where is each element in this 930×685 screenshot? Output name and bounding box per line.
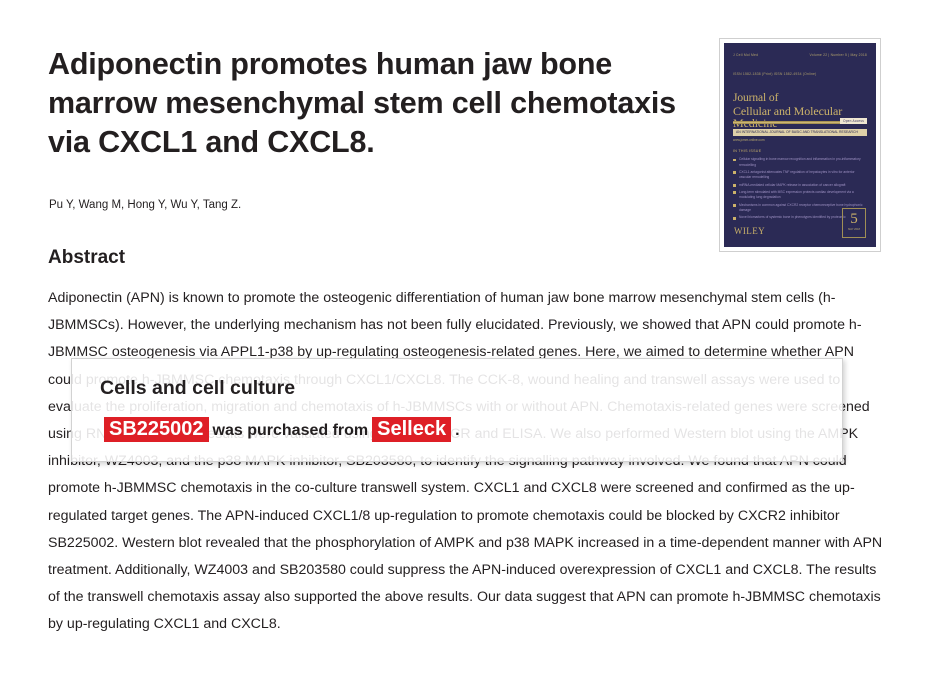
annotation-period: . bbox=[451, 422, 463, 439]
wiley-logo: WILEY bbox=[734, 226, 765, 236]
cover-issue-subtext: MAY 2018 bbox=[843, 228, 865, 231]
cover-issn-line: ISSN 1582-1838 (Print) ISSN 1582-4934 (O… bbox=[733, 72, 816, 76]
cover-header-left: J Cell Mol Med bbox=[733, 53, 758, 58]
cover-in-this-issue-label: IN THIS ISSUE bbox=[733, 149, 761, 153]
cover-header-right: Volume 22 | Number 5 | May 2018 bbox=[809, 53, 867, 58]
document-page: Adiponectin promotes human jaw bone marr… bbox=[0, 0, 930, 685]
cover-journal-line1: Journal of bbox=[733, 92, 778, 104]
cover-bullet-item: miRNA-mediated cellular MAPK release in … bbox=[733, 183, 867, 189]
cover-bullet-item: Cellular signalling in bone marrow recog… bbox=[733, 157, 867, 168]
cover-issue-badge: 5 MAY 2018 bbox=[842, 208, 866, 238]
annotation-heading: Cells and cell culture bbox=[100, 376, 295, 400]
cover-website-line: www.jcmm.online.com bbox=[733, 137, 867, 143]
cover-open-access-badge: Open Access bbox=[840, 118, 867, 124]
annotation-middle-text: was purchased from bbox=[209, 422, 373, 439]
cover-issue-number: 5 bbox=[843, 210, 865, 228]
highlighted-vendor: Selleck bbox=[372, 417, 451, 442]
page-title: Adiponectin promotes human jaw bone marr… bbox=[48, 45, 703, 162]
cover-journal-line2: Cellular and Molecular Medicine bbox=[733, 105, 876, 130]
annotation-overlay: Cells and cell culture SB225002was purch… bbox=[71, 358, 843, 462]
abstract-heading: Abstract bbox=[48, 246, 125, 270]
cover-bullet-item: CXCL1 antagonist attenuates TNF regulati… bbox=[733, 170, 867, 181]
cover-bullet-item: Long-term stimulated with MSC expression… bbox=[733, 190, 867, 201]
highlighted-compound: SB225002 bbox=[104, 417, 209, 442]
cover-subtitle-band: AN INTERNATIONAL JOURNAL OF BASIC AND TR… bbox=[733, 129, 867, 136]
cover-header-row: J Cell Mol Med Volume 22 | Number 5 | Ma… bbox=[733, 52, 867, 58]
journal-cover-thumbnail: J Cell Mol Med Volume 22 | Number 5 | Ma… bbox=[719, 38, 881, 252]
authors-line: Pu Y, Wang M, Hong Y, Wu Y, Tang Z. bbox=[49, 198, 241, 213]
journal-cover-artwork: J Cell Mol Med Volume 22 | Number 5 | Ma… bbox=[724, 43, 876, 247]
annotation-sentence: SB225002was purchased fromSelleck. bbox=[104, 416, 464, 444]
